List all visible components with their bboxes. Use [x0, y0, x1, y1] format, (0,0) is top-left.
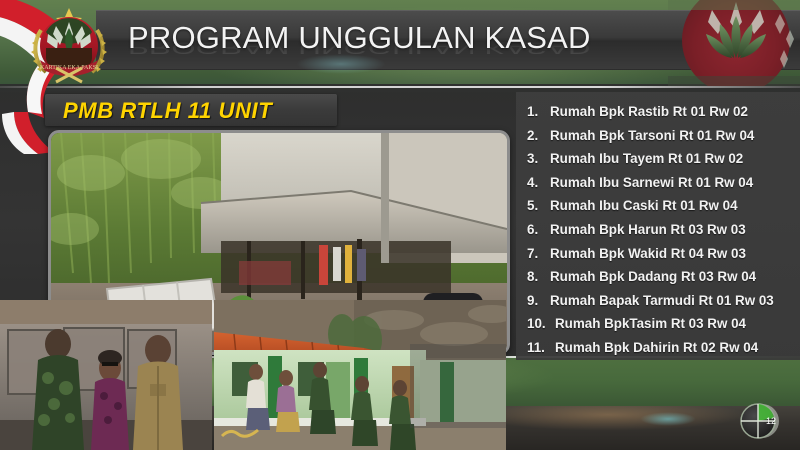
- list-item-label: Rumah Bpk Tarsoni Rt 01 Rw 04: [550, 124, 754, 148]
- list-item: 2.Rumah Bpk Tarsoni Rt 01 Rw 04: [527, 124, 795, 148]
- photo-soldier-with-residents: [0, 300, 212, 450]
- banner-label: PMB RTLH 11 UNIT: [63, 98, 272, 124]
- clock-watermark-label: 12: [766, 416, 776, 426]
- page-title: PROGRAM UNGGULAN KASAD: [128, 20, 591, 56]
- list-item-number: 11.: [527, 336, 555, 360]
- list-item-label: Rumah Ibu Tayem Rt 01 Rw 02: [550, 147, 743, 171]
- list-item-number: 6.: [527, 218, 550, 242]
- list-item-number: 2.: [527, 124, 550, 148]
- list-item-number: 9.: [527, 289, 550, 313]
- list-item-label: Rumah Bpk Wakid Rt 04 Rw 03: [550, 242, 746, 266]
- list-item: 5.Rumah Ibu Caski Rt 01 Rw 04: [527, 194, 795, 218]
- list-item-number: 7.: [527, 242, 550, 266]
- list-item-number: 10.: [527, 312, 555, 336]
- list-item-label: Rumah BpkTasim Rt 03 Rw 04: [555, 312, 746, 336]
- svg-text:KARTIKA EKA PAKSI: KARTIKA EKA PAKSI: [40, 65, 98, 71]
- list-item: 11.Rumah Bpk Dahirin Rt 02 Rw 04: [527, 336, 795, 360]
- list-item-label: Rumah Ibu Sarnewi Rt 01 Rw 04: [550, 171, 753, 195]
- list-item-number: 3.: [527, 147, 550, 171]
- photo-bm-image: [214, 300, 506, 450]
- photo-bl-image: [0, 300, 212, 450]
- list-item: 3.Rumah Ibu Tayem Rt 01 Rw 02: [527, 147, 795, 171]
- list-item-number: 4.: [527, 171, 550, 195]
- list-item: 8. Rumah Bpk Dadang Rt 03 Rw 04: [527, 265, 795, 289]
- list-item-label: Rumah Bapak Tarmudi Rt 01 Rw 03: [550, 289, 774, 313]
- list-item: 1.Rumah Bpk Rastib Rt 01 Rw 02: [527, 100, 795, 124]
- divider-line-top: [0, 86, 800, 88]
- slide-root: PROGRAM UNGGULAN KASAD PROGRAM UNGGULAN …: [0, 0, 800, 450]
- list-item-label: Rumah Bpk Rastib Rt 01 Rw 02: [550, 100, 748, 124]
- tni-ad-crest-icon: KARTIKA EKA PAKSI: [26, 6, 112, 84]
- list-item-label: Rumah Bpk Dahirin Rt 02 Rw 04: [555, 336, 758, 360]
- list-item-label: Rumah Bpk Dadang Rt 03 Rw 04: [550, 265, 756, 289]
- list-item-label: Rumah Ibu Caski Rt 01 Rw 04: [550, 194, 738, 218]
- list-item: 4.Rumah Ibu Sarnewi Rt 01 Rw 04: [527, 171, 795, 195]
- recipient-list: 1.Rumah Bpk Rastib Rt 01 Rw 022.Rumah Bp…: [527, 100, 795, 360]
- photo-renovated-house: [214, 300, 506, 450]
- list-item-number: 1.: [527, 100, 550, 124]
- list-item: 6.Rumah Bpk Harun Rt 03 Rw 03: [527, 218, 795, 242]
- list-item: 7.Rumah Bpk Wakid Rt 04 Rw 03: [527, 242, 795, 266]
- list-item-label: Rumah Bpk Harun Rt 03 Rw 03: [550, 218, 746, 242]
- list-item-number: 8.: [527, 265, 550, 289]
- list-item: 9.Rumah Bapak Tarmudi Rt 01 Rw 03: [527, 289, 795, 313]
- list-item-number: 5.: [527, 194, 550, 218]
- clock-watermark: 12: [736, 398, 782, 444]
- lotus-emblem-icon: [668, 0, 800, 86]
- list-item: 10. Rumah BpkTasim Rt 03 Rw 04: [527, 312, 795, 336]
